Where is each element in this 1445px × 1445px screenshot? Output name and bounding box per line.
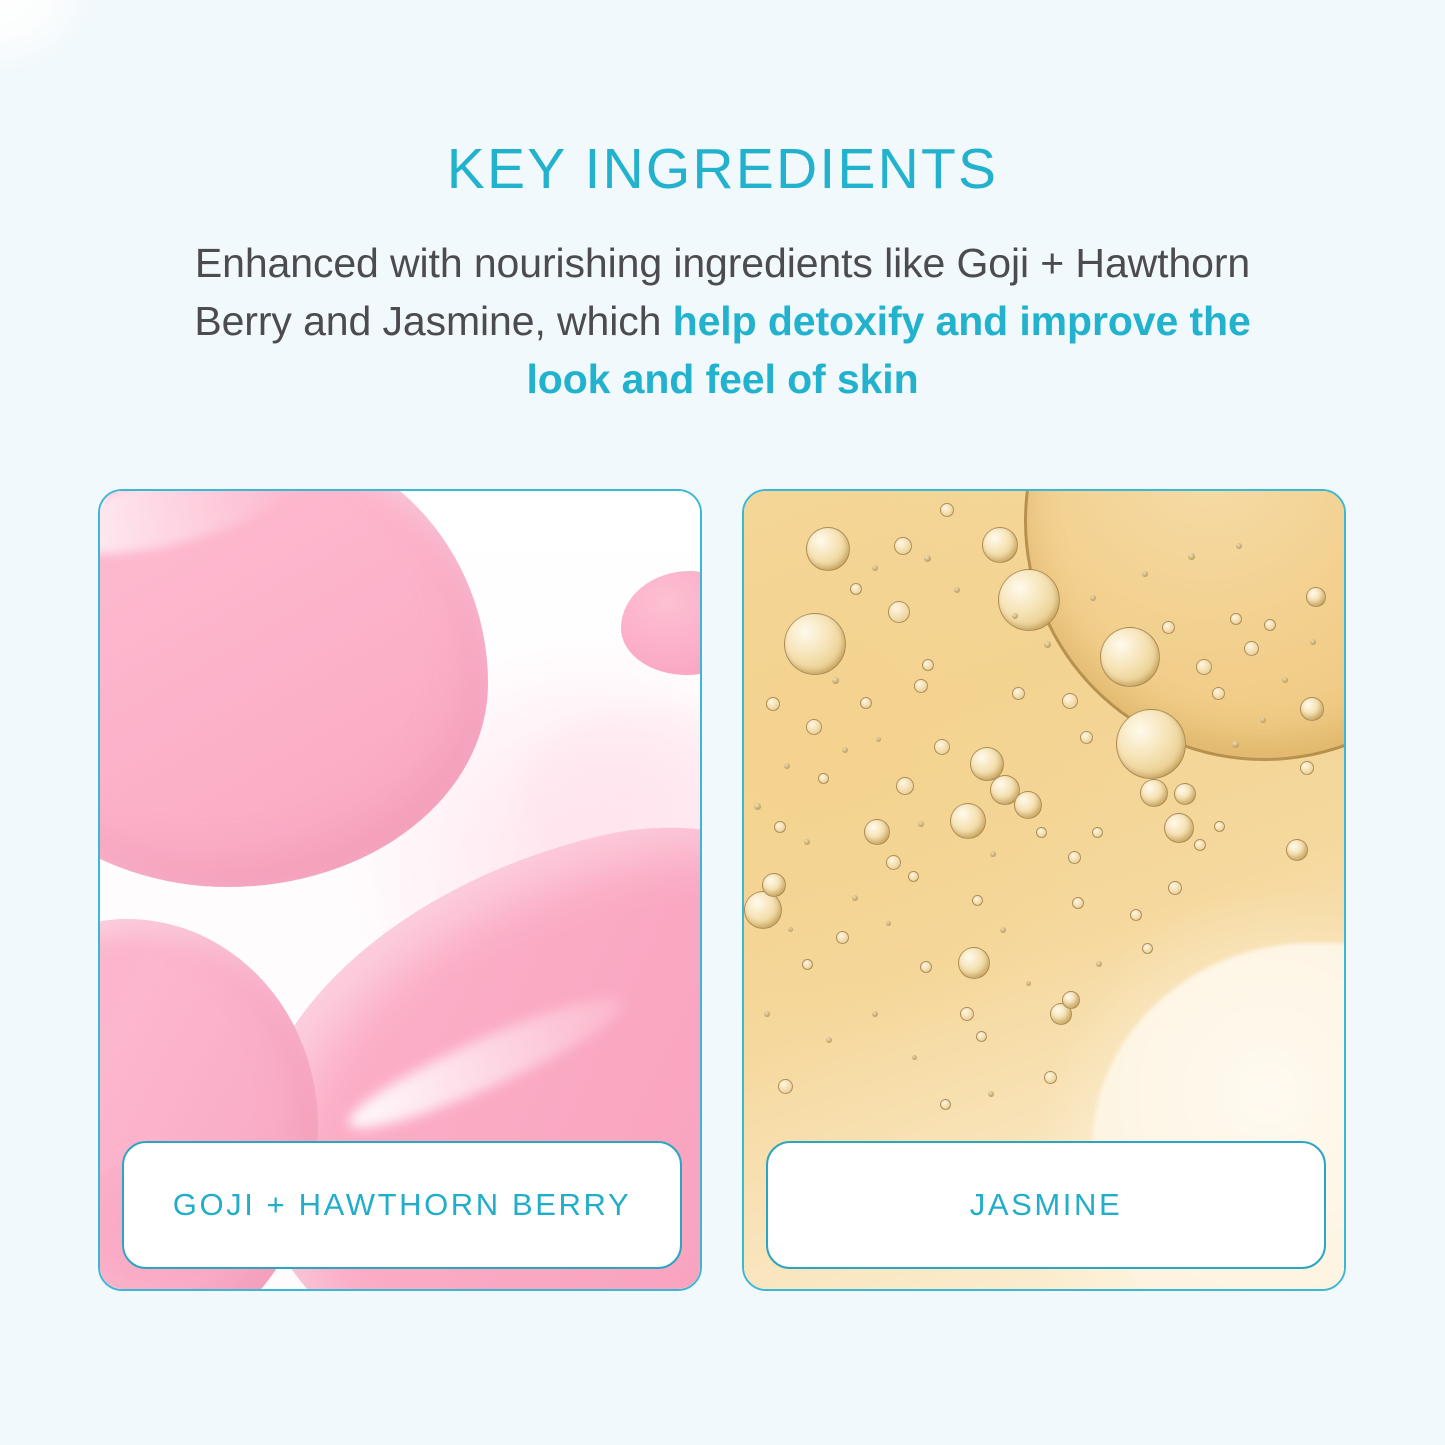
bubble [894,537,912,555]
bubble [872,1011,878,1017]
bubble [912,1055,917,1060]
bubble [762,873,786,897]
bubble [876,737,881,742]
bubble [832,677,839,684]
bubble [888,601,910,623]
bubble [1232,741,1239,748]
bubble [1168,881,1182,895]
bubble [920,961,932,973]
ingredient-label-plate: GOJI + HAWTHORN BERRY [122,1141,682,1269]
bubble [1194,839,1206,851]
bubble [818,773,829,784]
bubble [976,1031,987,1042]
bubble [1230,613,1242,625]
bubble [806,719,822,735]
bubble [1014,791,1042,819]
bubble [1300,761,1314,775]
bubble [1092,827,1103,838]
bubble [908,871,919,882]
bubble [778,1079,793,1094]
bubble [826,1037,832,1043]
bubble [1044,1071,1057,1084]
bubble [918,821,924,827]
bubble [1044,641,1051,648]
bubble [1306,587,1326,607]
bubble [1188,553,1195,560]
bubble [954,587,960,593]
bubble [1310,639,1316,645]
bubble [886,921,891,926]
bubble [1162,621,1175,634]
bubble [960,1007,974,1021]
bubble [982,527,1018,563]
bubble [1264,619,1276,631]
bubble [754,803,761,810]
bubble [836,931,849,944]
bubble [950,803,986,839]
ingredient-card-jasmine[interactable]: JASMINE [742,489,1346,1291]
page-title: KEY INGREDIENTS [0,140,1445,200]
bubble [1012,613,1018,619]
ingredient-label-plate: JASMINE [766,1141,1326,1269]
ingredient-label-text: JASMINE [970,1187,1123,1223]
bubble [788,927,793,932]
bubble [1096,961,1102,967]
bubble [934,739,950,755]
bubble [1140,779,1168,807]
bubble [784,763,790,769]
bubble [764,1011,770,1017]
bubble [1062,991,1080,1009]
bubble [802,959,813,970]
bubble [990,851,996,857]
bubble [1142,943,1153,954]
bubble [774,821,786,833]
ingredient-card-goji-hawthorn-berry[interactable]: GOJI + HAWTHORN BERRY [98,489,702,1291]
bubble [1286,839,1308,861]
bubble [1090,595,1096,601]
bubble [1072,897,1084,909]
ingredient-cards: GOJI + HAWTHORN BERRY [98,489,1346,1291]
bubble [1260,717,1266,723]
bubble [804,839,810,845]
bubble [860,697,872,709]
bubble [1036,827,1047,838]
bubble [1068,851,1081,864]
bubble [1130,909,1142,921]
bubble [988,1091,994,1097]
bubble [1244,641,1259,656]
bubble [914,679,928,693]
bubble [972,895,983,906]
bubble [784,613,846,675]
bubble [940,503,954,517]
bubble [1026,981,1031,986]
bubble [958,947,990,979]
ingredient-label-text: GOJI + HAWTHORN BERRY [173,1187,632,1223]
bubble [872,565,878,571]
bubble [1212,687,1225,700]
bubble [1080,731,1093,744]
bubble [806,527,850,571]
bubble [1214,821,1225,832]
bubble [1282,677,1288,683]
bubble [864,819,890,845]
bubble [1100,627,1160,687]
bubble [1196,659,1212,675]
bubble [886,855,901,870]
bubble [766,697,780,711]
subtitle: Enhanced with nourishing ingredients lik… [178,234,1268,409]
bubble [922,659,934,671]
bubble [1236,543,1242,549]
bubble [924,555,931,562]
bubble [842,747,848,753]
bubble [940,1099,951,1110]
bubble [852,895,858,901]
bubble [1116,709,1186,779]
header: KEY INGREDIENTS Enhanced with nourishing… [0,0,1445,409]
bubble [896,777,914,795]
bubble [1174,783,1196,805]
bubble [998,569,1060,631]
bubble [1300,697,1324,721]
bubble [1142,571,1148,577]
bubble [1164,813,1194,843]
bubble [1000,927,1006,933]
bubble [1062,693,1078,709]
bubble [850,583,862,595]
bubble [1012,687,1025,700]
